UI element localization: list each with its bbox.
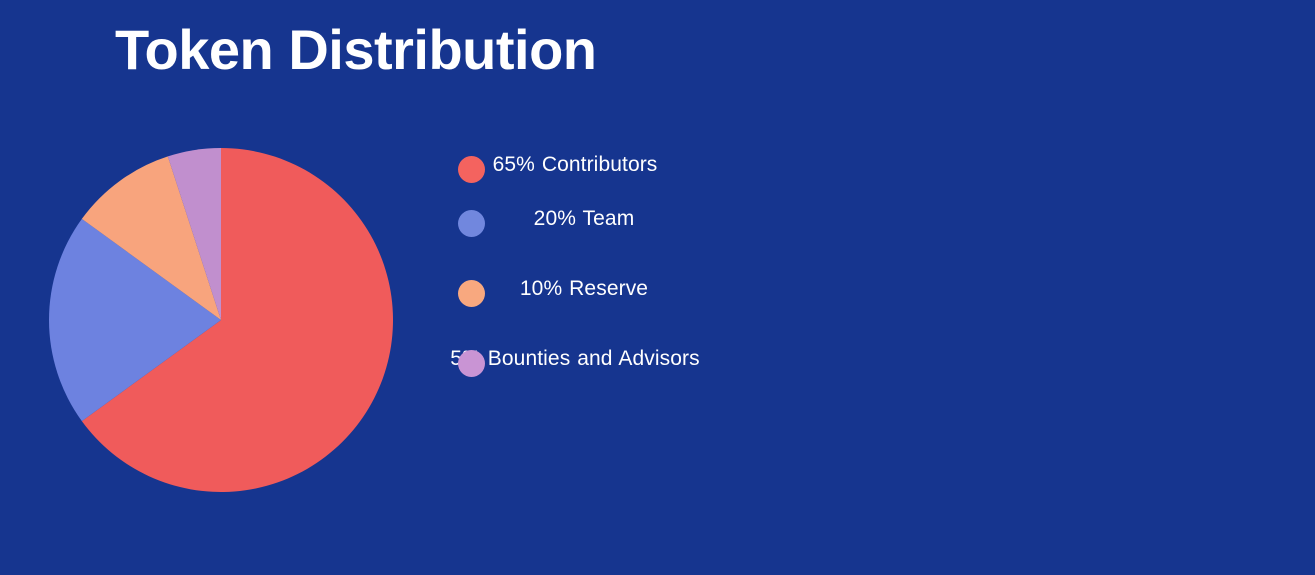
legend-item-team[interactable]: 20% Team [440, 204, 700, 234]
legend-swatch-contributors-icon [458, 156, 485, 183]
legend-swatch-reserve-icon [458, 280, 485, 307]
legend-item-bounties-and-advisors[interactable]: 5% Bounties and Advisors [440, 344, 700, 374]
page-title: Token Distribution [115, 18, 597, 82]
pie-slice-group [49, 148, 393, 492]
legend-swatch-bounties-and-advisors-icon [458, 350, 485, 377]
legend-item-reserve[interactable]: 10% Reserve [440, 274, 700, 304]
chart-legend: 65% Contributors 20% Team 10% Reserve 5%… [440, 150, 700, 374]
slide-canvas: Token Distribution 65% Contributors 20% … [0, 0, 1315, 575]
pie-chart [49, 148, 393, 492]
legend-swatch-team-icon [458, 210, 485, 237]
legend-item-contributors[interactable]: 65% Contributors [440, 150, 700, 180]
